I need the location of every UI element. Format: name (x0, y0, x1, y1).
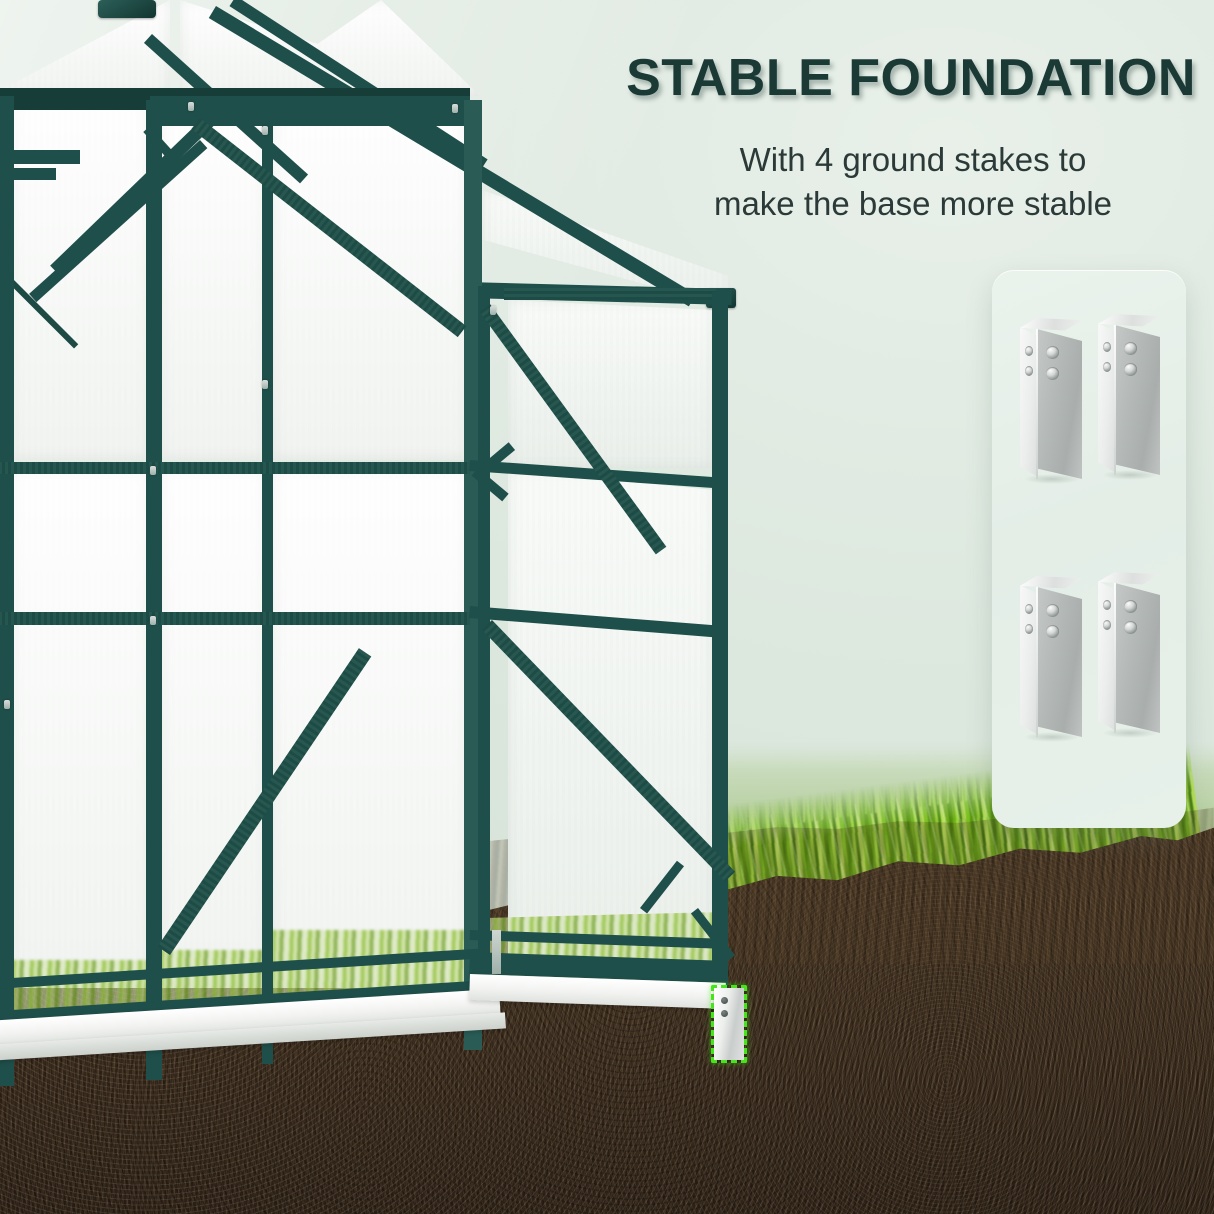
stake-hole-narrow-1 (1025, 604, 1033, 614)
ground-stake-1 (1020, 318, 1082, 480)
post-front-left-corner (0, 96, 14, 1086)
stake-top-face (1098, 314, 1160, 330)
stake-hole-wide-1 (1046, 604, 1059, 617)
interior-support-post (492, 930, 501, 974)
stake-hole-narrow-2 (1103, 620, 1111, 630)
ground-stake-4 (1098, 572, 1160, 734)
stake-face-wide (1115, 325, 1160, 475)
screw-mullion-1 (262, 126, 268, 135)
installed-stake-highlight-outline (711, 985, 747, 1063)
stake-corner-edge (1114, 582, 1116, 733)
stake-hole-narrow-1 (1025, 346, 1033, 356)
ridge-cap-fitting (98, 0, 156, 18)
screw-brace-1 (490, 306, 496, 315)
stake-hole-wide-1 (1046, 346, 1059, 359)
side-eave-rib (504, 288, 716, 300)
stake-corner-edge (1114, 324, 1116, 475)
stake-grid (992, 270, 1186, 828)
ground-stake-2 (1098, 314, 1160, 476)
pane-front-upper-right (272, 104, 468, 460)
rail-front-mid-lower (0, 612, 470, 625)
stake-top-face (1020, 576, 1082, 592)
subtitle: With 4 ground stakes to make the base mo… (630, 138, 1196, 225)
stake-face-wide (1037, 587, 1082, 737)
stake-hole-wide-2 (1046, 625, 1059, 638)
screw-mullion-2 (262, 380, 268, 389)
stake-hole-wide-2 (1046, 367, 1059, 380)
subtitle-line-1: With 4 ground stakes to (630, 138, 1196, 182)
pane-front-lower-mid (160, 468, 266, 988)
ground-stake-3 (1020, 576, 1082, 738)
stake-hole-wide-1 (1124, 342, 1137, 355)
pane-front-lower-right (272, 468, 468, 988)
post-front-mullion-2 (262, 104, 273, 1064)
screw-rail-2 (150, 616, 156, 625)
product-feature-image: STABLE FOUNDATION With 4 ground stakes t… (0, 0, 1214, 1214)
stake-hole-wide-2 (1124, 621, 1137, 634)
post-side-rear-corner (712, 292, 728, 1006)
subtitle-line-2: make the base more stable (630, 182, 1196, 226)
stake-hole-narrow-2 (1025, 624, 1033, 634)
stake-top-face (1020, 318, 1082, 334)
stake-corner-edge (1036, 586, 1038, 737)
pane-front-lower-left (10, 468, 150, 988)
post-front-mullion-1 (146, 100, 162, 1080)
screw-eave-2 (452, 104, 458, 113)
screw-post-left (4, 700, 10, 709)
stake-face-wide (1115, 583, 1160, 733)
installed-ground-stake (714, 988, 744, 1060)
stake-face-wide (1037, 329, 1082, 479)
page-title: STABLE FOUNDATION (556, 48, 1196, 108)
stake-top-face (1098, 572, 1160, 588)
stake-hole-narrow-2 (1025, 366, 1033, 376)
stake-hole-wide-2 (1124, 363, 1137, 376)
screw-rail-1 (150, 466, 156, 475)
screw-eave-1 (188, 102, 194, 111)
rail-front-mid-upper (0, 462, 470, 474)
stake-hole-narrow-1 (1103, 342, 1111, 352)
stake-hole-wide-1 (1124, 600, 1137, 613)
stake-hole-narrow-1 (1103, 600, 1111, 610)
stake-hole-narrow-2 (1103, 362, 1111, 372)
ground-stakes-card (992, 270, 1186, 828)
pane-side-lower (508, 470, 714, 970)
stake-corner-edge (1036, 328, 1038, 479)
